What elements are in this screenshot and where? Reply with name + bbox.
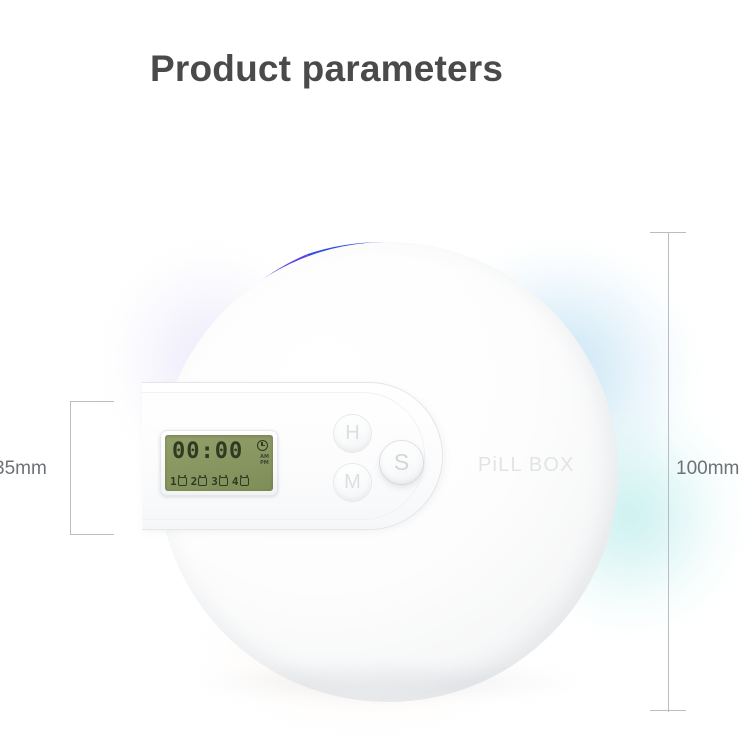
- alarm-number-4: 4: [232, 476, 239, 487]
- device-shadow: [188, 662, 588, 702]
- dimension-cap-top-left: [70, 401, 114, 402]
- alarm-bell-icon: [198, 477, 207, 486]
- alarm-slot-1: 1: [170, 476, 187, 487]
- alarm-bell-icon: [219, 477, 228, 486]
- product-parameters-page: Product parameters: [0, 0, 750, 750]
- alarm-number-1: 1: [170, 476, 177, 487]
- alarm-bell-icon: [240, 477, 249, 486]
- lcd-time-value: 00:00: [172, 441, 243, 463]
- lcd-alarm-row: 1 2 3 4: [170, 476, 249, 487]
- hour-button[interactable]: H: [334, 415, 371, 452]
- pill-box-device: 00:00 AM PM 1 2 3: [148, 232, 628, 712]
- dimension-line-thickness: [70, 401, 71, 535]
- clock-icon: [257, 440, 268, 451]
- alarm-slot-2: 2: [191, 476, 208, 487]
- dimension-line-height: [668, 232, 669, 712]
- alarm-number-2: 2: [191, 476, 198, 487]
- lcd-display: 00:00 AM PM 1 2 3: [160, 430, 278, 496]
- dimension-label-height: 100mm: [676, 458, 739, 480]
- brand-label: PiLL BOX: [478, 454, 575, 477]
- dimension-label-thickness: 35mm: [0, 458, 47, 480]
- dimension-cap-bottom-right: [650, 710, 686, 711]
- alarm-slot-4: 4: [232, 476, 249, 487]
- alarm-number-3: 3: [211, 476, 218, 487]
- set-button[interactable]: S: [380, 441, 423, 484]
- lcd-pm-label: PM: [260, 460, 269, 466]
- lcd-ampm-indicator: AM PM: [260, 454, 269, 466]
- page-title: Product parameters: [150, 48, 503, 90]
- alarm-bell-icon: [178, 477, 187, 486]
- alarm-slot-3: 3: [211, 476, 228, 487]
- lcd-screen: 00:00 AM PM 1 2 3: [165, 435, 273, 491]
- dimension-cap-bottom-left: [70, 534, 114, 535]
- dimension-cap-top-right: [650, 232, 686, 233]
- minute-button[interactable]: M: [334, 464, 371, 501]
